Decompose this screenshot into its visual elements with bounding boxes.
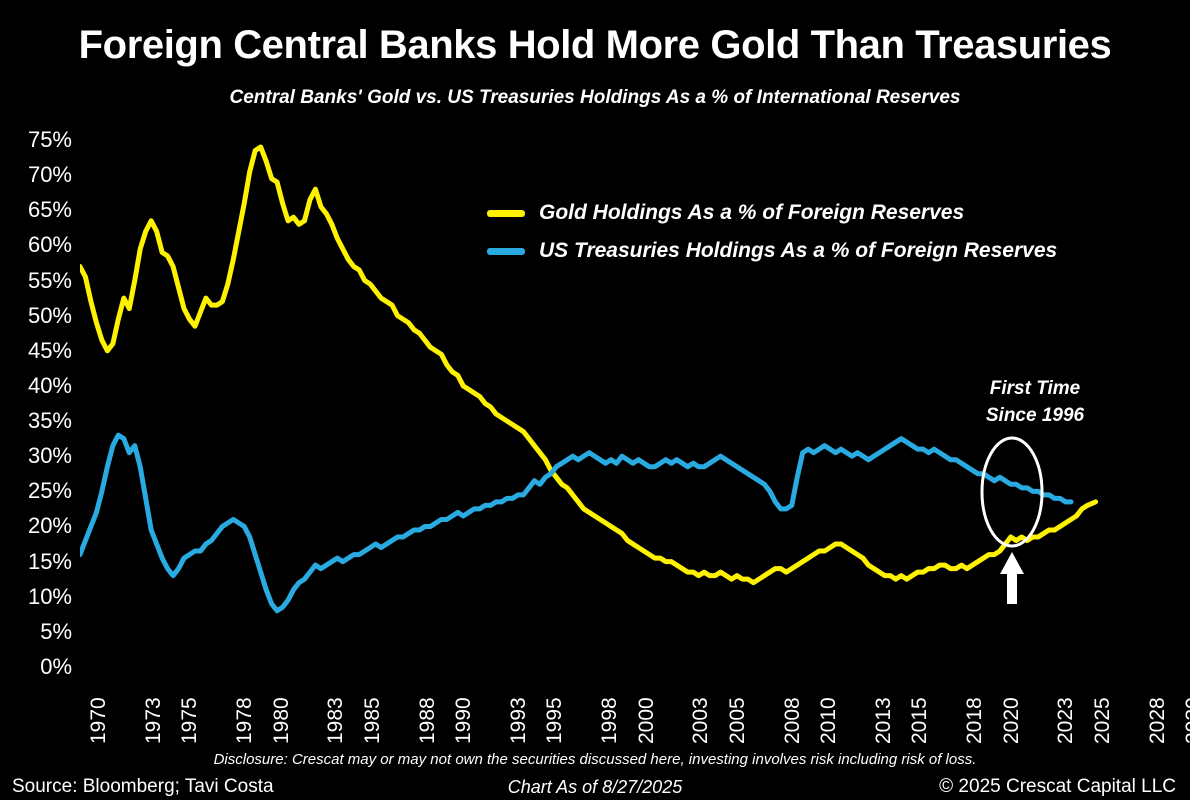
- chart-title: Foreign Central Banks Hold More Gold Tha…: [0, 22, 1190, 68]
- y-axis: 0%5%10%15%20%25%30%35%40%45%50%55%60%65%…: [8, 140, 72, 667]
- y-axis-tick-label: 70%: [10, 164, 72, 186]
- legend-swatch-treasuries-icon: [487, 248, 525, 255]
- annotation-line-2: Since 1996: [965, 402, 1105, 429]
- x-axis-tick-label: 1998: [599, 697, 620, 744]
- x-axis-tick-label: 1995: [544, 697, 565, 744]
- annotation-line-1: First Time: [965, 375, 1105, 402]
- chart-legend: Gold Holdings As a % of Foreign Reserves…: [487, 194, 1057, 270]
- disclosure-text: Disclosure: Crescat may or may not own t…: [0, 751, 1190, 768]
- x-axis-tick-label: 2000: [636, 697, 657, 744]
- x-axis-tick-label: 2003: [690, 697, 711, 744]
- y-axis-tick-label: 55%: [10, 270, 72, 292]
- x-axis-tick-label: 1990: [453, 697, 474, 744]
- y-axis-tick-label: 35%: [10, 410, 72, 432]
- x-axis-tick-label: 1975: [179, 697, 200, 744]
- annotation-text: First Time Since 1996: [965, 375, 1105, 429]
- x-axis-tick-label: 1980: [271, 697, 292, 744]
- x-axis-tick-label: 1993: [508, 697, 529, 744]
- y-axis-tick-label: 20%: [10, 515, 72, 537]
- x-axis: 1970197319751978198019831985198819901993…: [80, 672, 1175, 752]
- y-axis-tick-label: 75%: [10, 129, 72, 151]
- x-axis-tick-label: 2013: [873, 697, 894, 744]
- x-axis-tick-label: 2025: [1092, 697, 1113, 744]
- y-axis-tick-label: 30%: [10, 445, 72, 467]
- legend-item-treasuries: US Treasuries Holdings As a % of Foreign…: [487, 232, 1057, 270]
- y-axis-tick-label: 0%: [10, 656, 72, 678]
- y-axis-tick-label: 60%: [10, 234, 72, 256]
- y-axis-tick-label: 15%: [10, 551, 72, 573]
- series-line-treasuries: [80, 435, 1071, 611]
- y-axis-tick-label: 45%: [10, 340, 72, 362]
- legend-label-gold: Gold Holdings As a % of Foreign Reserves: [539, 201, 964, 225]
- x-axis-tick-label: 2028: [1147, 697, 1168, 744]
- y-axis-tick-label: 65%: [10, 199, 72, 221]
- x-axis-tick-label: 2010: [818, 697, 839, 744]
- y-axis-tick-label: 50%: [10, 305, 72, 327]
- x-axis-tick-label: 1970: [88, 697, 109, 744]
- x-axis-tick-label: 1973: [143, 697, 164, 744]
- x-axis-tick-label: 1985: [362, 697, 383, 744]
- x-axis-tick-label: 2015: [909, 697, 930, 744]
- y-axis-tick-label: 25%: [10, 480, 72, 502]
- x-axis-tick-label: 1978: [234, 697, 255, 744]
- chart-subtitle: Central Banks' Gold vs. US Treasuries Ho…: [0, 86, 1190, 110]
- legend-label-treasuries: US Treasuries Holdings As a % of Foreign…: [539, 239, 1057, 263]
- x-axis-tick-label: 1983: [325, 697, 346, 744]
- legend-item-gold: Gold Holdings As a % of Foreign Reserves: [487, 194, 1057, 232]
- y-axis-tick-label: 10%: [10, 586, 72, 608]
- x-axis-tick-label: 2018: [964, 697, 985, 744]
- x-axis-tick-label: 2020: [1001, 697, 1022, 744]
- y-axis-tick-label: 40%: [10, 375, 72, 397]
- copyright-text: © 2025 Crescat Capital LLC: [939, 776, 1176, 798]
- y-axis-tick-label: 5%: [10, 621, 72, 643]
- x-axis-tick-label: 2023: [1055, 697, 1076, 744]
- x-axis-tick-label: 2008: [782, 697, 803, 744]
- x-axis-tick-label: 2005: [727, 697, 748, 744]
- chart-canvas: Foreign Central Banks Hold More Gold Tha…: [0, 0, 1190, 800]
- legend-swatch-gold-icon: [487, 210, 525, 217]
- x-axis-tick-label: 1988: [417, 697, 438, 744]
- x-axis-tick-label: 2030: [1183, 697, 1190, 744]
